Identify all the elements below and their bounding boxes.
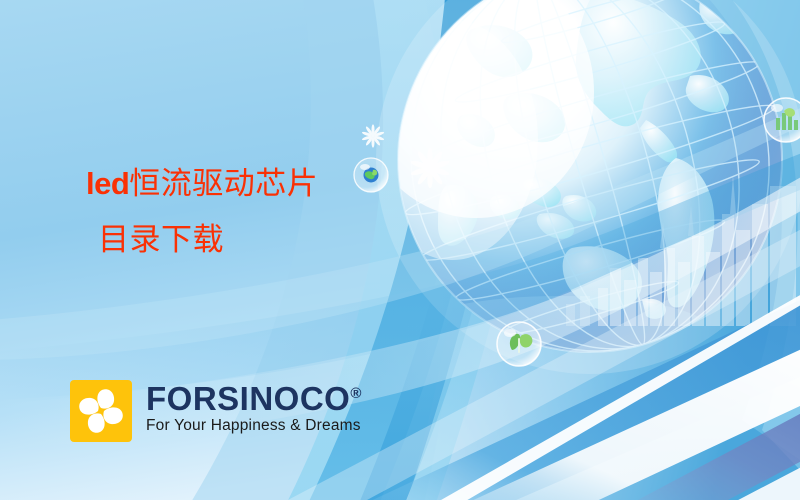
promo-banner: led恒流驱动芯片 目录下载 FORSINOCO® For Your Happi… (0, 0, 800, 500)
logo-text-block: FORSINOCO® For Your Happiness & Dreams (146, 380, 362, 435)
snowflake-large (410, 148, 450, 188)
logo-tagline: For Your Happiness & Dreams (146, 417, 362, 435)
headline-line-1: led恒流驱动芯片 (86, 164, 318, 205)
pinwheel-flower-icon (70, 380, 132, 442)
headline-text: led恒流驱动芯片 目录下载 (86, 164, 318, 260)
logo-wordmark-text: FORSINOCO (146, 380, 350, 417)
bubble-globe-icon (354, 158, 388, 192)
headline-line-1-cjk: 恒流驱动芯片 (129, 166, 318, 202)
registered-trademark-icon: ® (350, 385, 362, 402)
company-logo: FORSINOCO® For Your Happiness & Dreams (70, 380, 362, 442)
bubble-leaf-icon (497, 322, 541, 366)
headline-line-2: 目录下载 (86, 221, 318, 261)
headline-line-1-latin: led (86, 166, 129, 201)
bubble-city-icon (764, 98, 800, 142)
snowflake-small (362, 124, 385, 147)
logo-wordmark: FORSINOCO® (146, 382, 362, 416)
